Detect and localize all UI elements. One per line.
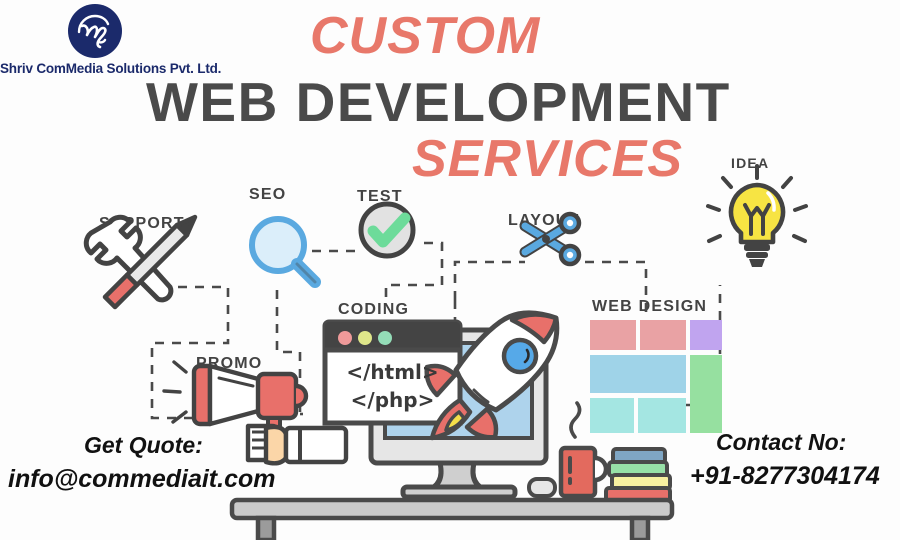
email-address[interactable]: info@commediait.com [8, 465, 275, 494]
code-line-2: </php> [330, 388, 455, 412]
label-test: TEST [357, 188, 403, 206]
tile-blue-wide [590, 355, 686, 393]
label-web-design: WEB DESIGN [592, 298, 707, 316]
tile-pink-1 [590, 320, 636, 350]
window-dot-yellow [358, 331, 372, 345]
book-yellow [612, 475, 670, 489]
label-layout: LAYOUT [508, 212, 580, 230]
phone-number[interactable]: +91-8277304174 [690, 462, 880, 491]
coffee-mug-icon [561, 403, 606, 496]
tile-cyan-1 [590, 398, 634, 433]
tile-purple [690, 320, 722, 350]
headline-custom: CUSTOM [310, 6, 540, 66]
tile-green-tall [690, 355, 722, 433]
tile-pink-2 [640, 320, 686, 350]
label-idea: IDEA [731, 155, 769, 171]
wireframe-grid-icon [590, 320, 722, 433]
label-promo: PROMO [196, 355, 262, 373]
window-dot-green [378, 331, 392, 345]
book-blue [613, 449, 665, 463]
desk-icon [232, 500, 672, 540]
mouse-icon [529, 479, 555, 496]
poster-canvas: Shriv ComMedia Solutions Pvt. Ltd. CUSTO… [0, 0, 900, 540]
magnifier-icon [252, 219, 315, 282]
contact-label: Contact No: [716, 429, 846, 456]
commedia-monogram-icon [66, 2, 124, 60]
window-dot-red [338, 331, 352, 345]
headline-services: SERVICES [412, 129, 683, 189]
lightbulb-icon [708, 166, 806, 267]
monitor-icon [371, 330, 555, 497]
brand-logo[interactable]: Shriv ComMedia Solutions Pvt. Ltd. [0, 2, 190, 76]
label-seo: SEO [249, 186, 286, 204]
book-red [606, 488, 670, 502]
get-quote-label: Get Quote: [84, 432, 203, 459]
headline-main: WEB DEVELOPMENT [146, 70, 731, 134]
book-green [609, 462, 667, 476]
code-line-1: </html> [330, 360, 455, 384]
book-stack-icon [606, 449, 670, 502]
tile-cyan-2 [638, 398, 686, 433]
checkmark-circle-icon [361, 204, 413, 256]
label-support: SUPPORT [99, 215, 185, 233]
label-coding: CODING [338, 301, 409, 319]
